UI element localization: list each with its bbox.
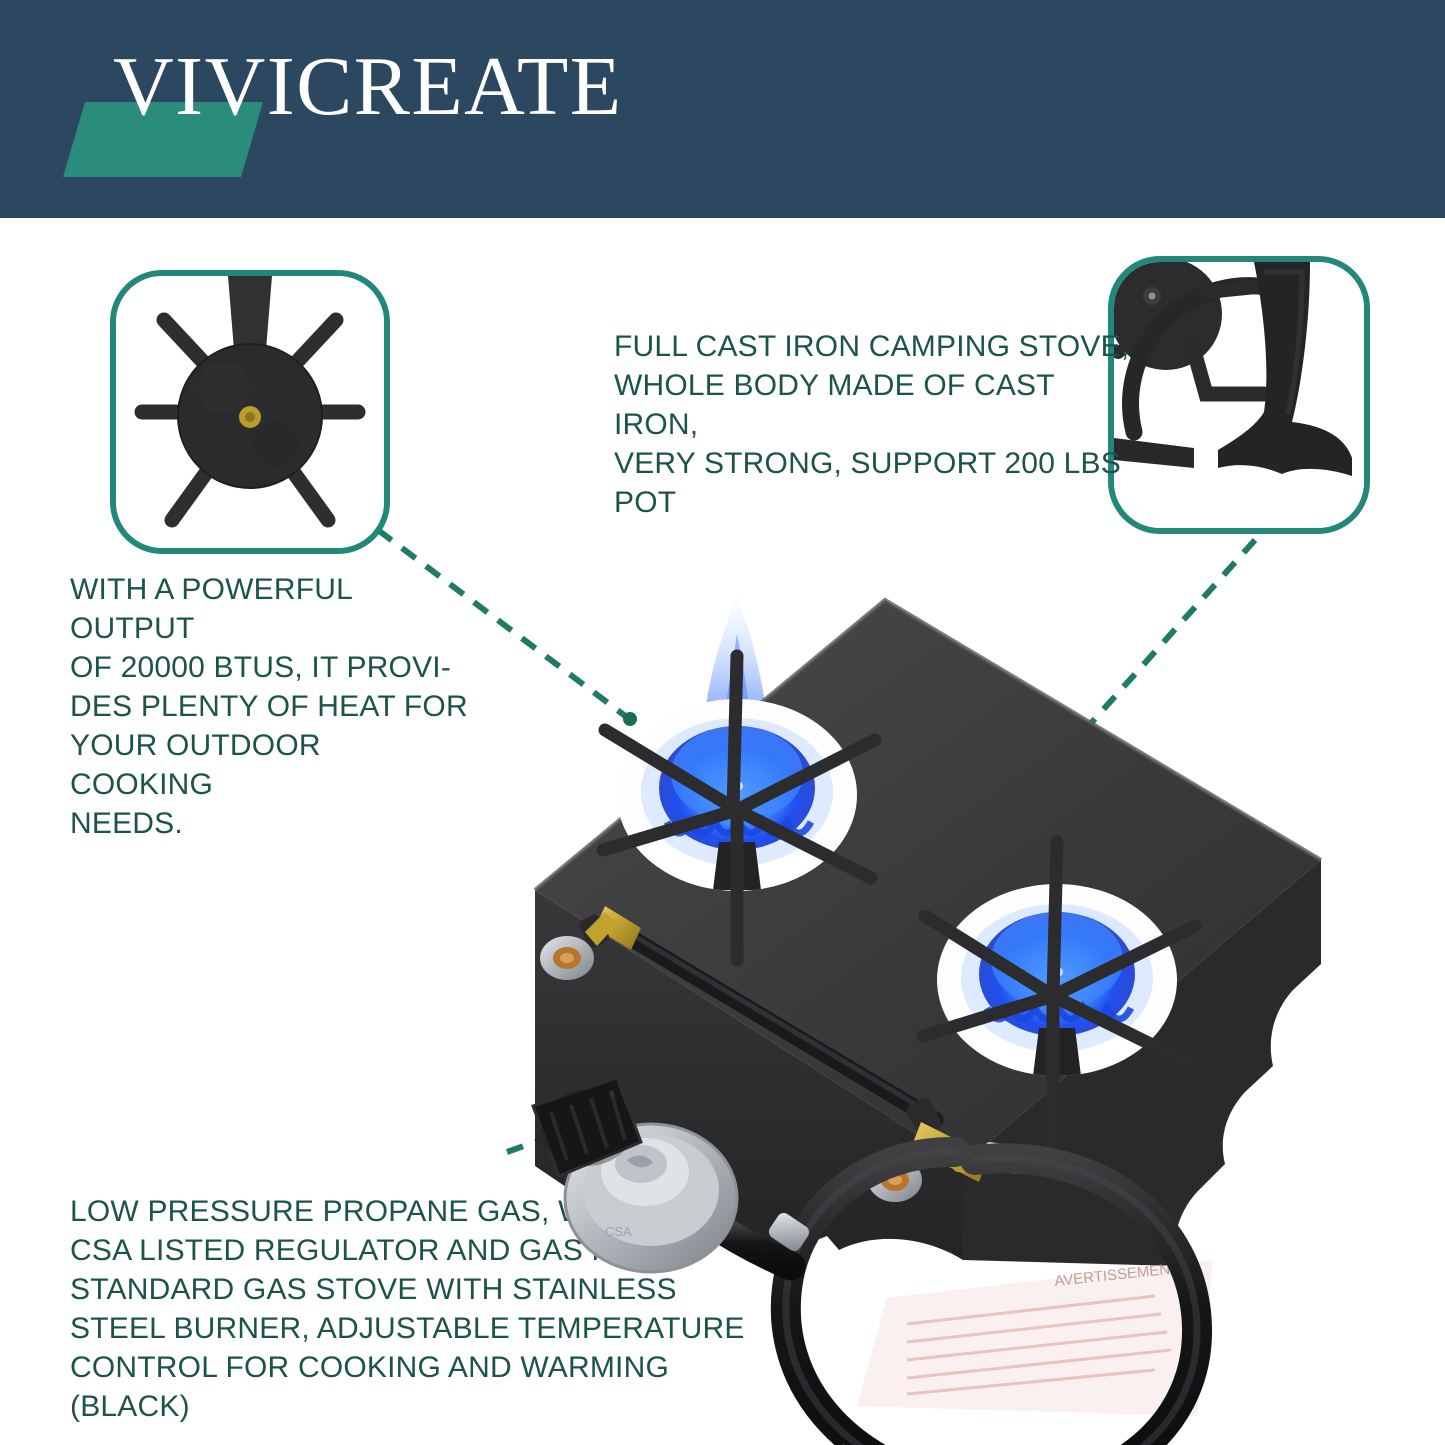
callout-leg-detail <box>1108 256 1370 534</box>
feature-text-btu: WITH A POWERFUL OUTPUT OF 20000 BTUS, IT… <box>70 570 470 843</box>
warning-label-paper: AVERTISSEMENT <box>857 1260 1213 1416</box>
callout-burner-detail <box>110 270 390 554</box>
infographic-page: VIVICREATE <box>0 0 1445 1445</box>
feature-text-cast-iron: FULL CAST IRON CAMPING STOVE, WHOLE BODY… <box>614 327 1134 522</box>
svg-text:CSA: CSA <box>605 1224 632 1239</box>
cast-iron-leg-closeup-photo <box>1114 262 1364 528</box>
stove-illustration: AVERTISSEMENT <box>455 560 1335 1445</box>
brand-header: VIVICREATE <box>0 0 1445 218</box>
brand-title: VIVICREATE <box>113 45 623 129</box>
burner-closeup-photo <box>116 276 384 548</box>
product-photo-stove: AVERTISSEMENT <box>455 560 1335 1445</box>
